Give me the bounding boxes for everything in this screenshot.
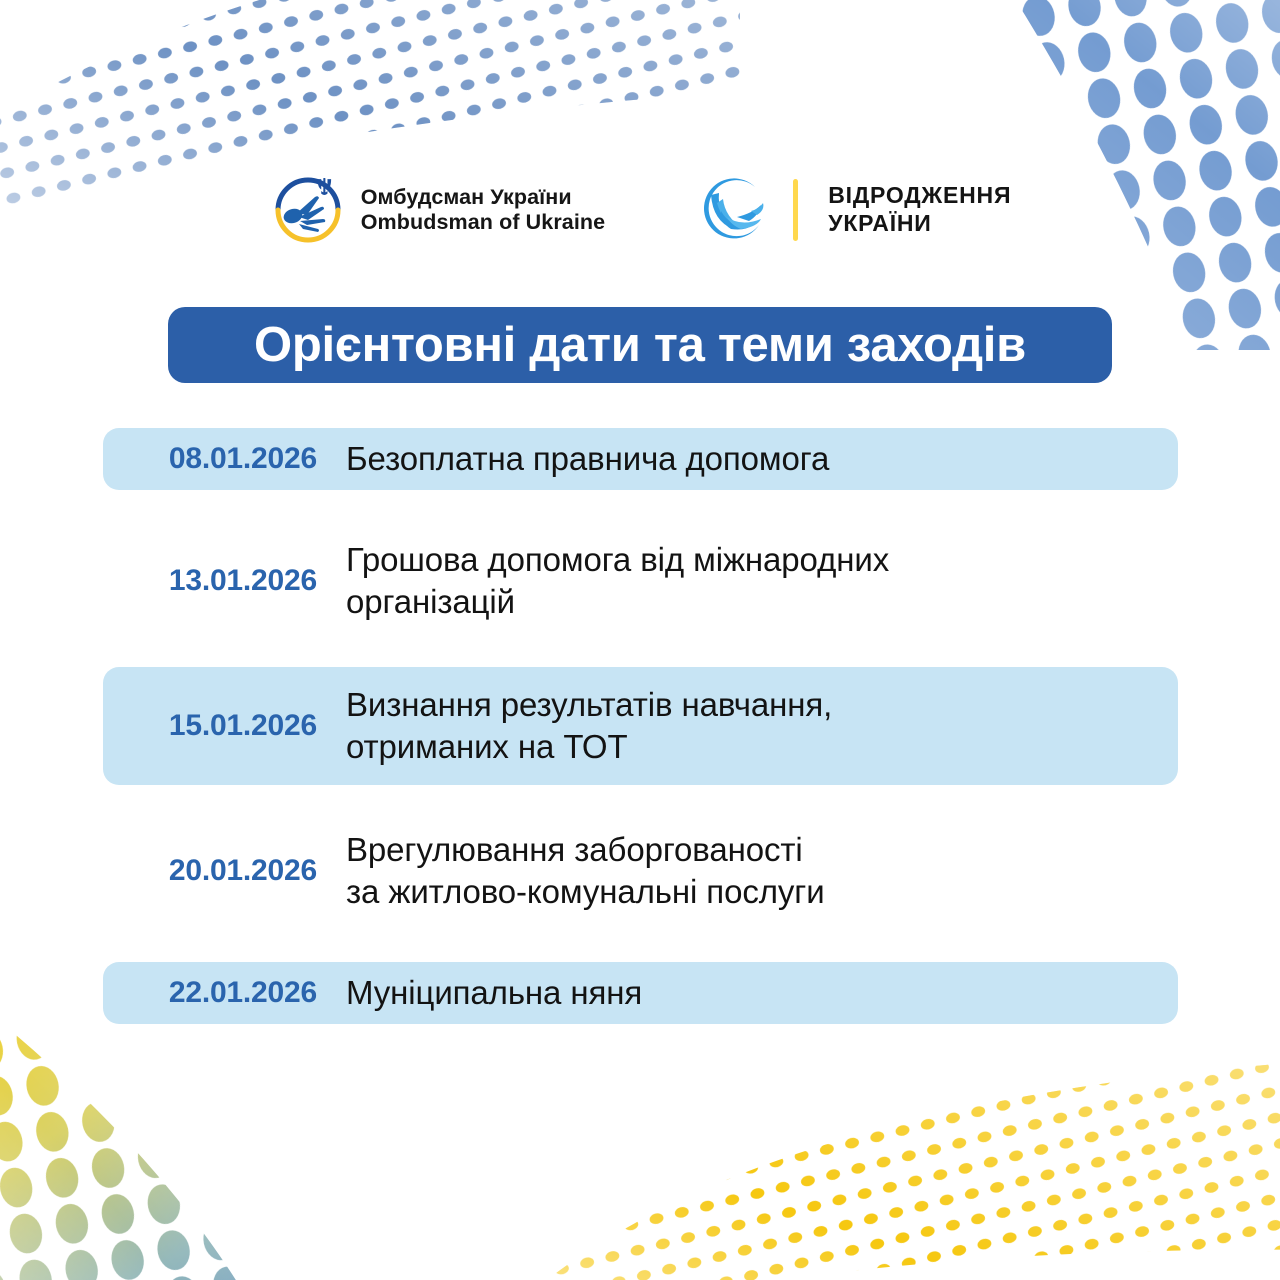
event-date: 08.01.2026 [103, 442, 346, 476]
poster-canvas: Омбудсман України Ombudsman of Ukraine В… [0, 0, 1280, 1280]
topic-line: організацій [346, 581, 1160, 623]
event-date: 13.01.2026 [103, 564, 346, 598]
ombudsman-logo: Омбудсман України Ombudsman of Ukraine [269, 171, 606, 249]
topic-line: отриманих на ТОТ [346, 726, 1160, 768]
ombudsman-wordmark: Омбудсман України Ombudsman of Ukraine [361, 185, 606, 236]
topic-line: за житлово-комунальні послуги [346, 871, 1160, 913]
vidrodzhennya-line-1: ВІДРОДЖЕННЯ [828, 182, 1011, 210]
topic-line: Врегулювання заборгованості [346, 829, 1160, 871]
ombudsman-dove-emblem [269, 171, 347, 249]
event-date: 20.01.2026 [103, 854, 346, 888]
decor-bottom-right-halftone-wave [540, 1020, 1280, 1280]
event-topic: Грошова допомога від міжнародних організ… [346, 539, 1160, 623]
event-topic: Врегулювання заборгованості за житлово-к… [346, 829, 1160, 913]
ombudsman-name-uk: Омбудсман України [361, 185, 606, 210]
row-spacer [103, 785, 1178, 812]
logo-divider [793, 179, 798, 241]
row-spacer [103, 490, 1178, 522]
event-date: 15.01.2026 [103, 709, 346, 743]
topic-line: Безоплатна правнича допомога [346, 438, 1160, 480]
event-date: 22.01.2026 [103, 976, 346, 1010]
vidrodzhennya-wordmark: ВІДРОДЖЕННЯ УКРАЇНИ [828, 182, 1011, 237]
table-row: 15.01.2026 Визнання результатів навчання… [103, 667, 1178, 785]
topic-line: Грошова допомога від міжнародних [346, 539, 1160, 581]
event-topic: Визнання результатів навчання, отриманих… [346, 684, 1160, 768]
page-title: Орієнтовні дати та теми заходів [254, 321, 1026, 370]
table-row: 13.01.2026 Грошова допомога від міжнарод… [103, 522, 1178, 640]
event-topic: Муніципальна няня [346, 972, 1160, 1014]
vidrodzhennya-logo: ВІДРОДЖЕННЯ УКРАЇНИ [697, 173, 1011, 247]
event-topic: Безоплатна правнича допомога [346, 438, 1160, 480]
table-row: 20.01.2026 Врегулювання заборгованості з… [103, 812, 1178, 930]
logo-bar: Омбудсман України Ombudsman of Ukraine В… [0, 160, 1280, 260]
page-title-banner: Орієнтовні дати та теми заходів [168, 307, 1112, 383]
row-spacer [103, 930, 1178, 962]
schedule-list: 08.01.2026 Безоплатна правнича допомога … [103, 428, 1178, 1024]
row-spacer [103, 640, 1178, 667]
topic-line: Визнання результатів навчання, [346, 684, 1160, 726]
table-row: 22.01.2026 Муніципальна няня [103, 962, 1178, 1024]
topic-line: Муніципальна няня [346, 972, 1160, 1014]
vidrodzhennya-line-2: УКРАЇНИ [828, 210, 1011, 238]
phoenix-bird-emblem [697, 173, 771, 247]
ombudsman-name-en: Ombudsman of Ukraine [361, 210, 606, 235]
table-row: 08.01.2026 Безоплатна правнича допомога [103, 428, 1178, 490]
